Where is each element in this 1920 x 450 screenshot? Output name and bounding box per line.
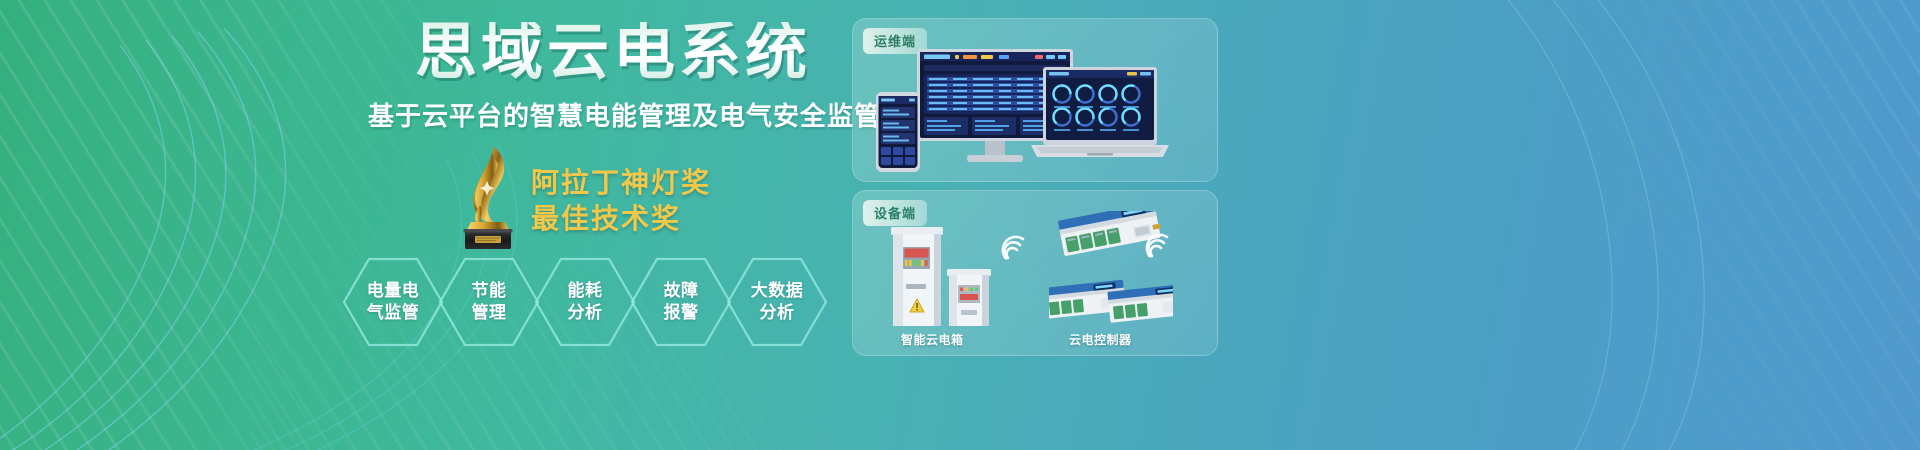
page-title: 思域云电系统 [415,22,811,84]
feature-badge-line2: 气监管 [367,303,420,322]
award-line-2: 最佳技术奖 [531,201,711,237]
promo-banner: 思域云电系统 基于云平台的智慧电能管理及电气安全监管 [0,0,1920,450]
device-panel: 设备端 [852,190,1218,356]
wifi-signal-icon [999,233,1029,261]
feature-badge-label: 故障 报警 [664,280,699,324]
feature-badge-3[interactable]: 故障 报警 [629,256,733,348]
smartphone-device [875,91,921,173]
feature-badge-line1: 能耗 [568,281,603,300]
award-line-1: 阿拉丁神灯奖 [531,165,711,201]
feature-badge-line2: 管理 [472,303,507,322]
feature-badge-line1: 节能 [472,281,507,300]
device-caption-controller: 云电控制器 [1069,331,1132,348]
page-subtitle: 基于云平台的智慧电能管理及电气安全监管 [368,96,881,133]
feature-badge-line1: 故障 [664,281,699,300]
wifi-signal-icon [1143,231,1173,259]
smart-cloud-power-cabinet [877,223,1005,329]
feature-badge-line2: 分析 [568,303,603,322]
feature-badge-line1: 大数据 [751,281,804,300]
feature-badge-4[interactable]: 大数据 分析 [725,256,829,348]
feature-badge-label: 电量电 气监管 [367,280,420,324]
device-caption-cabinet: 智能云电箱 [901,331,964,348]
left-content-column: 思域云电系统 基于云平台的智慧电能管理及电气安全监管 [0,0,860,450]
cloud-power-controller [1049,211,1173,331]
feature-badge-label: 节能 管理 [472,280,507,324]
right-panels-column: 运维端 [852,18,1227,438]
feature-badge-row: 电量电 气监管 节能 管理 能耗 分析 [341,256,841,348]
trophy-icon [452,143,524,251]
laptop-device [1029,65,1171,171]
ops-panel: 运维端 [852,18,1218,182]
feature-badge-0[interactable]: 电量电 气监管 [341,256,445,348]
feature-badge-label: 能耗 分析 [568,280,603,324]
feature-badge-label: 大数据 分析 [751,280,804,324]
feature-badge-line2: 分析 [760,303,795,322]
feature-badge-1[interactable]: 节能 管理 [437,256,541,348]
feature-badge-line2: 报警 [664,303,699,322]
award-text-group: 阿拉丁神灯奖 最佳技术奖 [531,165,711,237]
feature-badge-line1: 电量电 [367,281,420,300]
feature-badge-2[interactable]: 能耗 分析 [533,256,637,348]
